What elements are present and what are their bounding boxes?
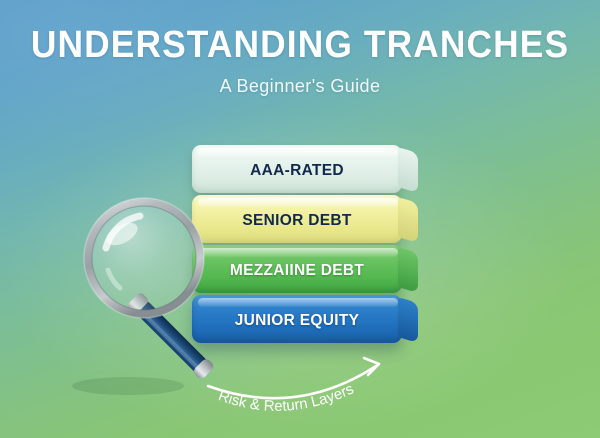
page-subtitle: A Beginner's Guide: [0, 76, 600, 97]
slab-side-face: [398, 297, 418, 343]
infographic-poster: UNDERSTANDING TRANCHES A Beginner's Guid…: [0, 0, 600, 438]
page-title: UNDERSTANDING TRANCHES: [21, 26, 579, 64]
slab-side-face: [398, 247, 418, 293]
tranche-label-mezzanine: MEZZAIINE DEBT: [230, 262, 364, 280]
slab-top-bevel: [198, 198, 398, 207]
slab-top-bevel: [198, 298, 398, 307]
arc-caption: Risk & Return Layers: [216, 380, 356, 412]
slab-side-face: [398, 197, 418, 243]
tranche-label-senior: SENIOR DEBT: [242, 212, 351, 230]
risk-return-arc: Risk & Return Layers: [198, 352, 398, 412]
tranche-label-aaa: AAA-RATED: [250, 162, 344, 180]
tranche-label-junior: JUNIOR EQUITY: [235, 312, 359, 330]
slab-side-face: [398, 147, 418, 193]
slab-top-bevel: [198, 248, 398, 257]
slab-top-bevel: [198, 148, 398, 157]
svg-text:Risk & Return Layers: Risk & Return Layers: [216, 380, 356, 412]
